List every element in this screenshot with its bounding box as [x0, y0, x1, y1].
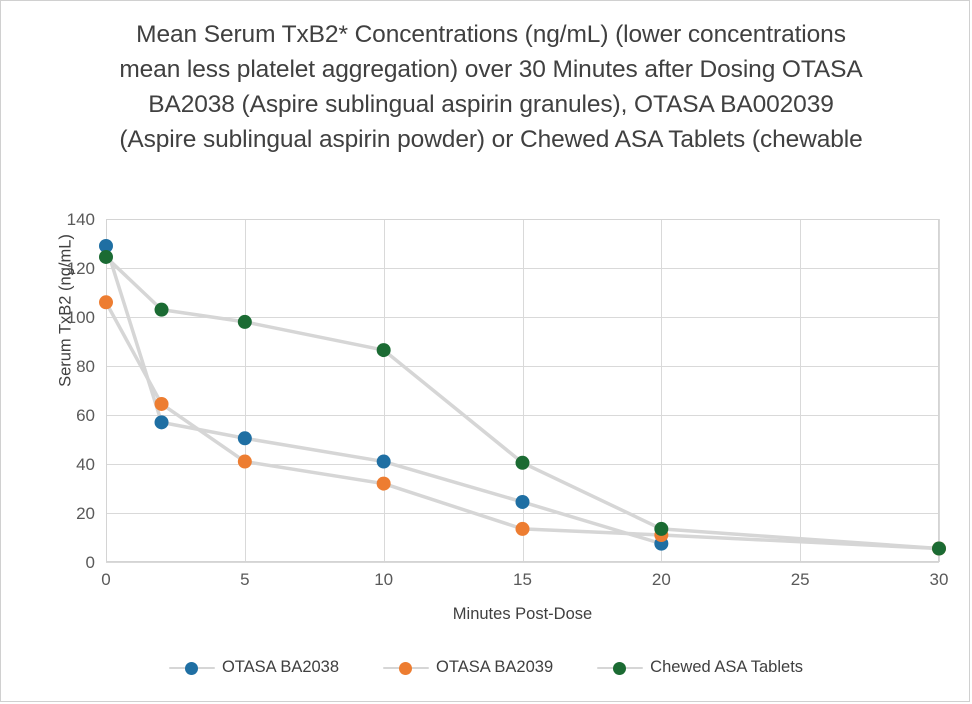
x-axis-tick-labels: 051015202530 — [106, 571, 939, 595]
legend-symbol — [169, 661, 215, 675]
data-point-marker[interactable] — [99, 295, 113, 309]
data-point-marker[interactable] — [377, 455, 391, 469]
data-point-marker[interactable] — [377, 477, 391, 491]
x-axis-tick-label: 15 — [493, 571, 553, 588]
x-axis-tick-label: 20 — [631, 571, 691, 588]
data-point-marker[interactable] — [516, 522, 530, 536]
x-axis-tick-label: 5 — [215, 571, 275, 588]
x-axis-tick-label: 0 — [76, 571, 136, 588]
legend-label: Chewed ASA Tablets — [650, 658, 803, 677]
y-axis-tick-label: 0 — [35, 554, 95, 571]
data-point-marker[interactable] — [654, 522, 668, 536]
series-line — [106, 246, 661, 544]
legend-label: OTASA BA2038 — [222, 658, 339, 677]
chart-legend: OTASA BA2038OTASA BA2039Chewed ASA Table… — [1, 658, 971, 677]
data-point-marker[interactable] — [377, 343, 391, 357]
legend-item[interactable]: OTASA BA2039 — [383, 658, 553, 677]
data-point-marker[interactable] — [155, 415, 169, 429]
legend-label: OTASA BA2039 — [436, 658, 553, 677]
gridline-horizontal — [106, 562, 939, 563]
series-layer — [106, 219, 939, 562]
x-axis-tick-label: 10 — [354, 571, 414, 588]
data-point-marker[interactable] — [238, 315, 252, 329]
x-axis-tick-label: 25 — [770, 571, 830, 588]
gridline-vertical — [939, 219, 940, 562]
data-point-marker[interactable] — [238, 431, 252, 445]
plot-area — [106, 219, 939, 562]
legend-symbol — [597, 661, 643, 675]
chart-container: Mean Serum TxB2* Concentrations (ng/mL) … — [0, 0, 970, 702]
y-axis-tick-label: 40 — [35, 456, 95, 473]
legend-symbol — [383, 661, 429, 675]
x-axis-tick-label: 30 — [909, 571, 969, 588]
chart-title: Mean Serum TxB2* Concentrations (ng/mL) … — [111, 17, 871, 157]
data-point-marker[interactable] — [516, 495, 530, 509]
data-point-marker[interactable] — [155, 397, 169, 411]
legend-item[interactable]: OTASA BA2038 — [169, 658, 339, 677]
data-point-marker[interactable] — [238, 455, 252, 469]
x-axis-title: Minutes Post-Dose — [106, 605, 939, 624]
legend-marker-icon — [399, 662, 412, 675]
legend-item[interactable]: Chewed ASA Tablets — [597, 658, 803, 677]
data-point-marker[interactable] — [155, 303, 169, 317]
legend-marker-icon — [185, 662, 198, 675]
data-point-marker[interactable] — [99, 250, 113, 264]
legend-marker-icon — [613, 662, 626, 675]
data-point-marker[interactable] — [932, 542, 946, 556]
y-axis-tick-label: 20 — [35, 505, 95, 522]
data-point-marker[interactable] — [516, 456, 530, 470]
series-line — [106, 302, 939, 548]
y-axis-title: Serum TxB2 (ng/mL) — [57, 196, 76, 426]
